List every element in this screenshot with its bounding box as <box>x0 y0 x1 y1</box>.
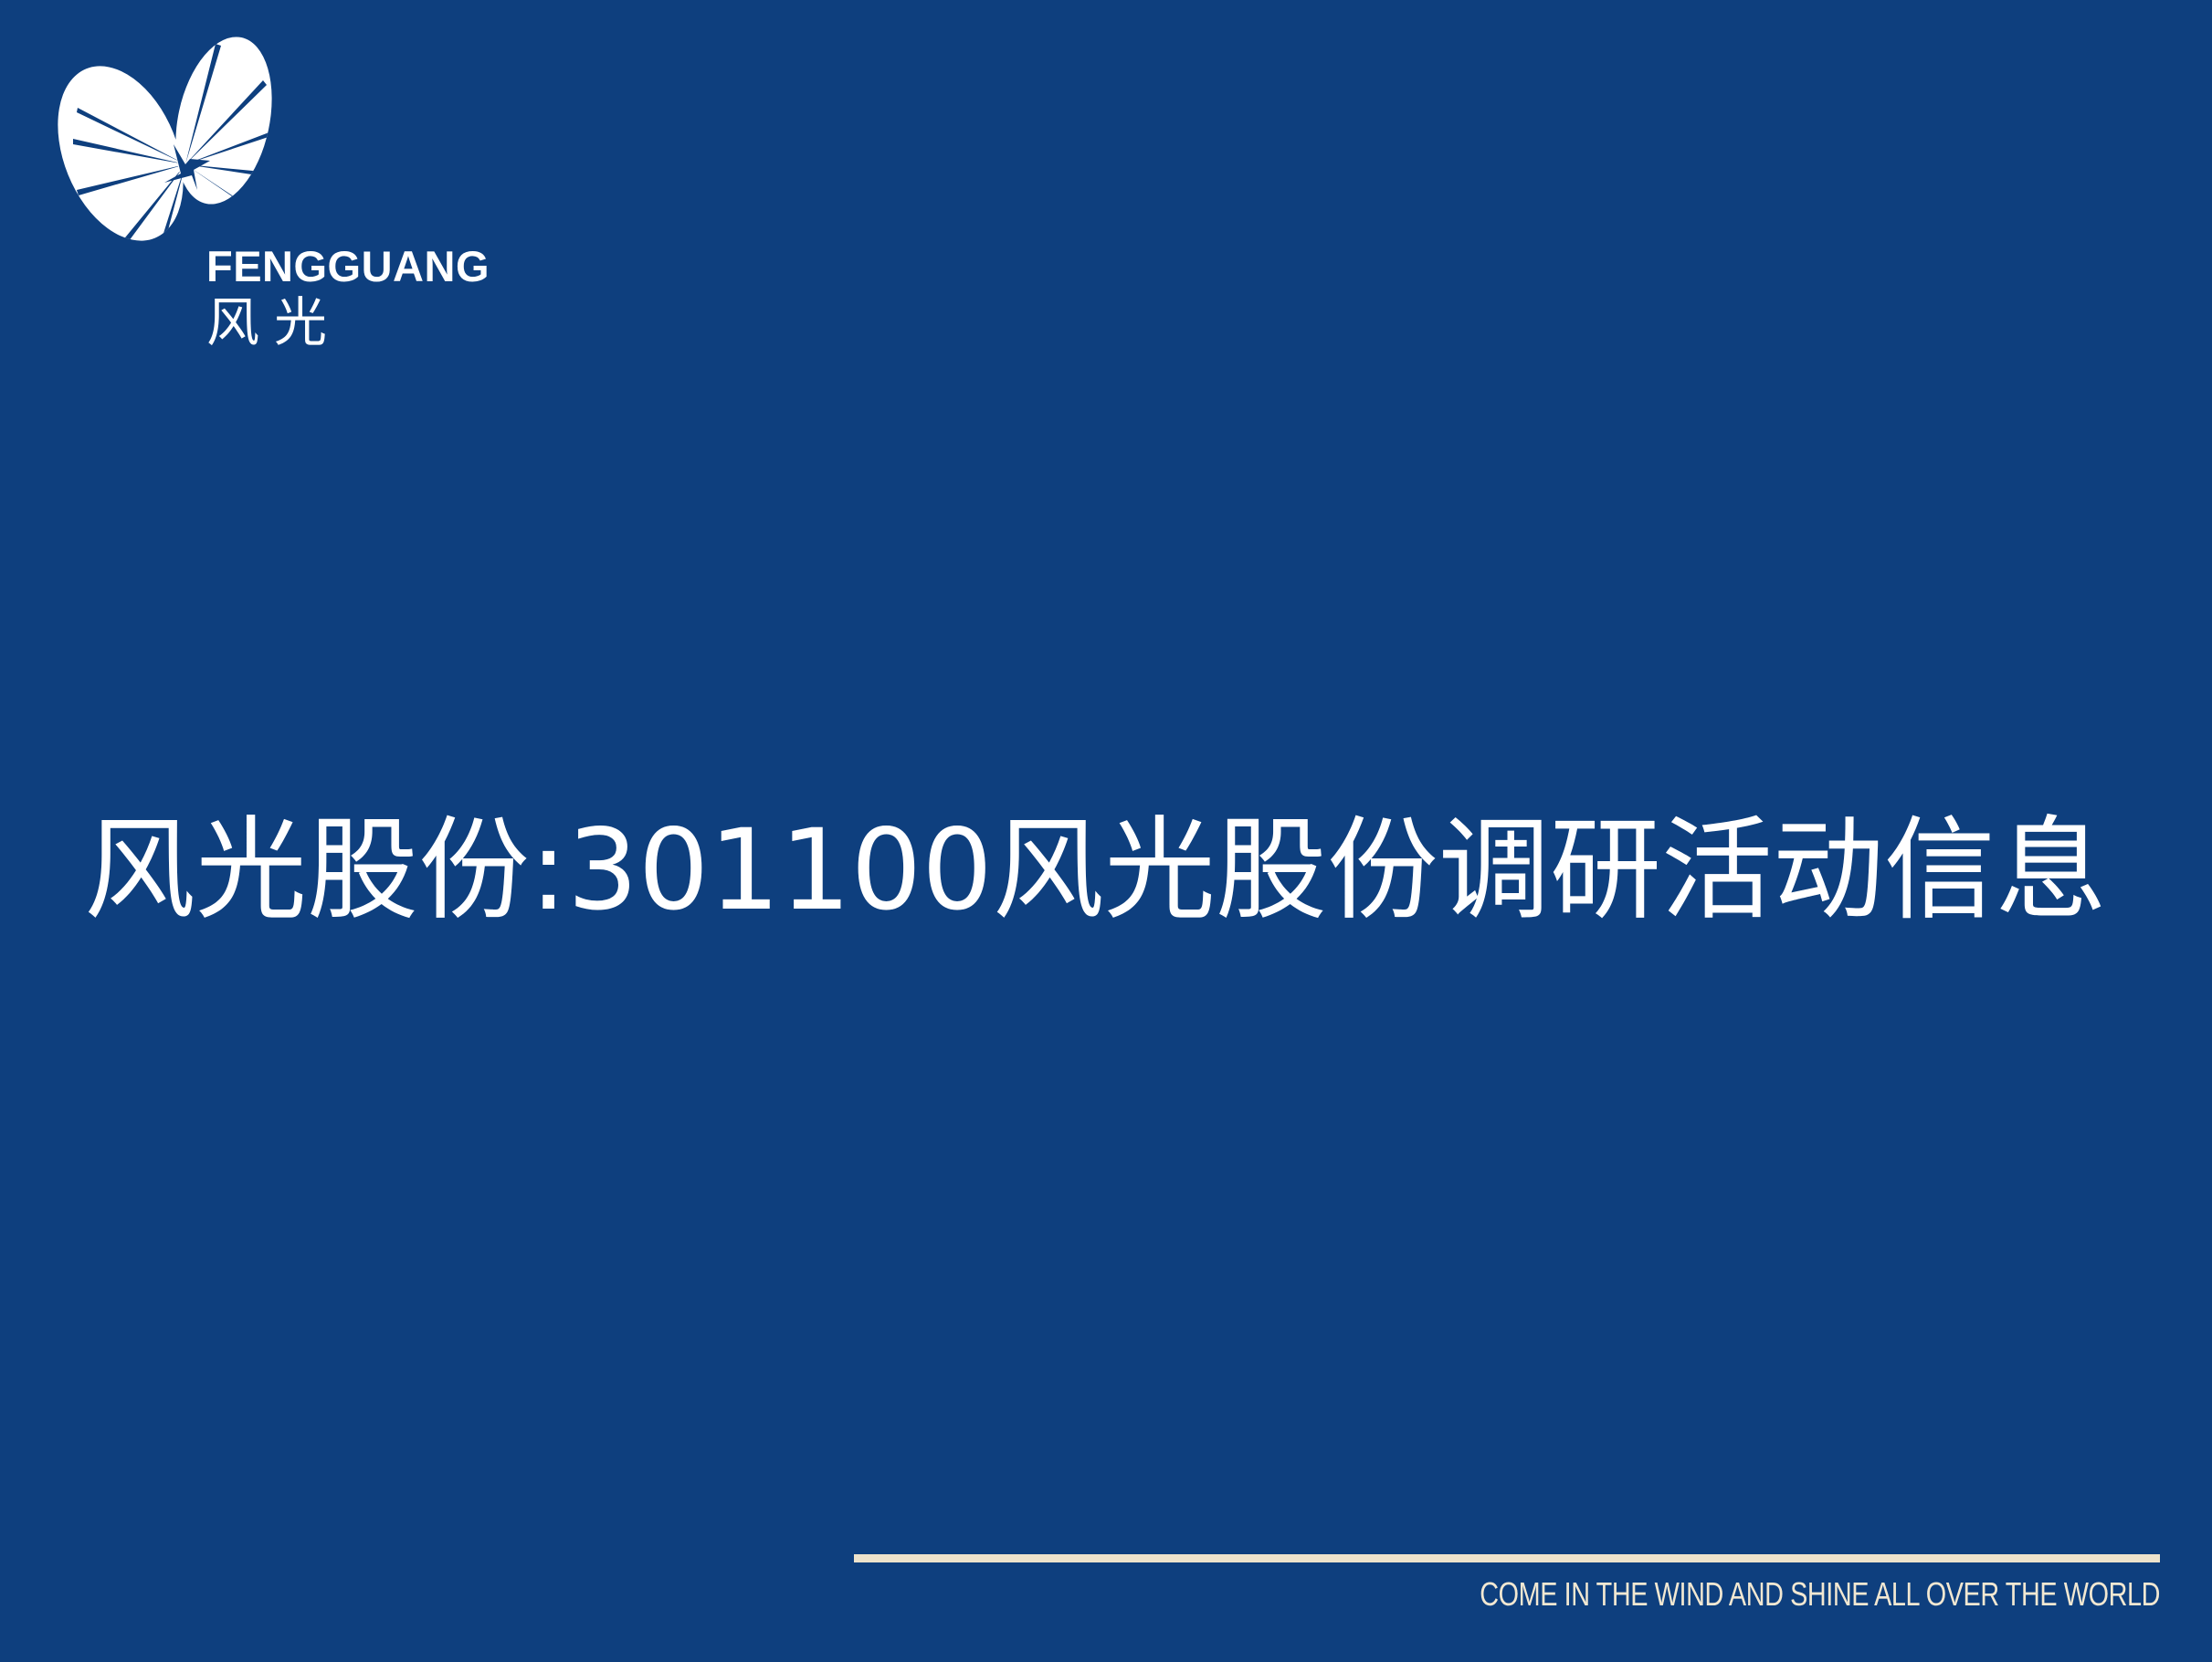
footer-tagline: COME IN THE WIND AND SHINE ALL OVER THE … <box>1115 1576 2160 1613</box>
title-slide: FENGGUANG 风光 风光股份:301100风光股份调研活动信息 COME … <box>0 0 2212 1662</box>
footer-divider <box>854 1554 2160 1562</box>
butterfly-icon-svg <box>37 37 301 265</box>
company-logo: FENGGUANG 风光 <box>0 0 585 384</box>
page-title: 风光股份:301100风光股份调研活动信息 <box>84 805 2166 937</box>
logo-chinese-name: 风光 <box>206 293 572 352</box>
logo-latin-name: FENGGUANG <box>206 245 572 288</box>
slide-footer: COME IN THE WIND AND SHINE ALL OVER THE … <box>0 1543 2212 1662</box>
logo-wordmark: FENGGUANG 风光 <box>206 245 572 352</box>
butterfly-icon <box>37 37 301 265</box>
